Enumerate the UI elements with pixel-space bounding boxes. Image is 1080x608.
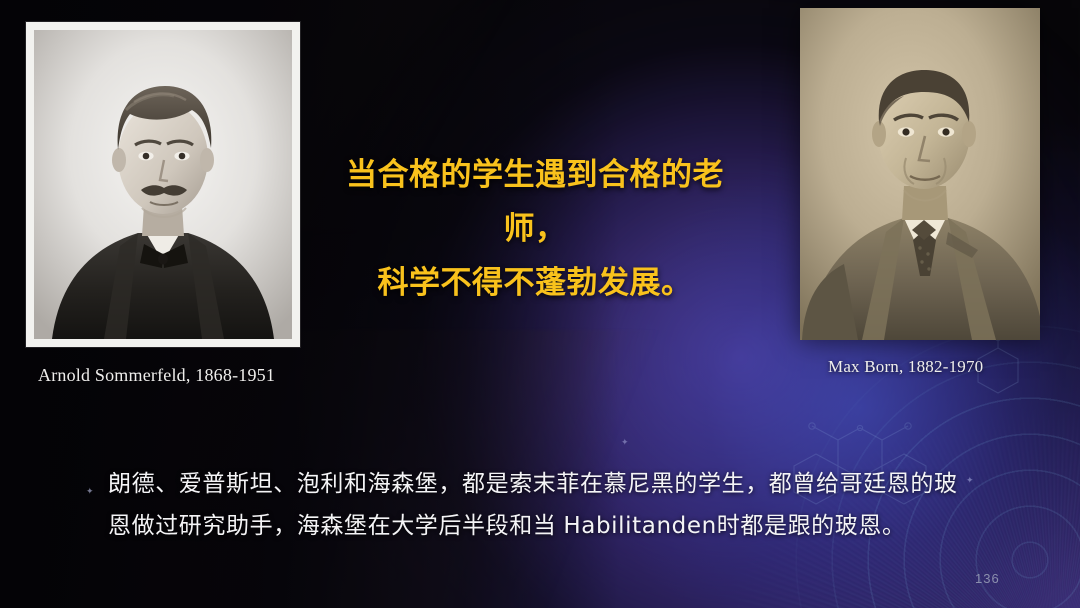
page-number: 136	[975, 571, 1000, 586]
sparkle-icon: ✦	[86, 487, 94, 496]
portrait-arnold-sommerfeld-image	[34, 30, 292, 339]
slide-headline: 当合格的学生遇到合格的老 师， 科学不得不蓬勃发展。	[300, 148, 770, 310]
portrait-max-born-image	[800, 8, 1040, 340]
portrait-caption-sommerfeld: Arnold Sommerfeld, 1868-1951	[38, 365, 275, 386]
portrait-max-born	[800, 8, 1040, 340]
headline-line-1: 当合格的学生遇到合格的老	[300, 148, 770, 202]
body-segment-latin: Habilitanden	[563, 513, 716, 539]
body-segment-cjk-2: 时都是跟的玻恩。	[717, 512, 906, 538]
headline-line-3: 科学不得不蓬勃发展。	[300, 256, 770, 310]
headline-line-2: 师，	[300, 202, 770, 256]
slide-body-paragraph: 朗德、爱普斯坦、泡利和海森堡，都是索末菲在慕尼黑的学生，都曾给哥廷恩的玻恩做过研…	[108, 462, 978, 547]
portrait-arnold-sommerfeld	[26, 22, 300, 347]
sparkle-icon: ✦	[621, 438, 629, 447]
presentation-slide: ✦ ✦ ✦	[0, 0, 1080, 608]
portrait-caption-born: Max Born, 1882-1970	[828, 357, 983, 377]
